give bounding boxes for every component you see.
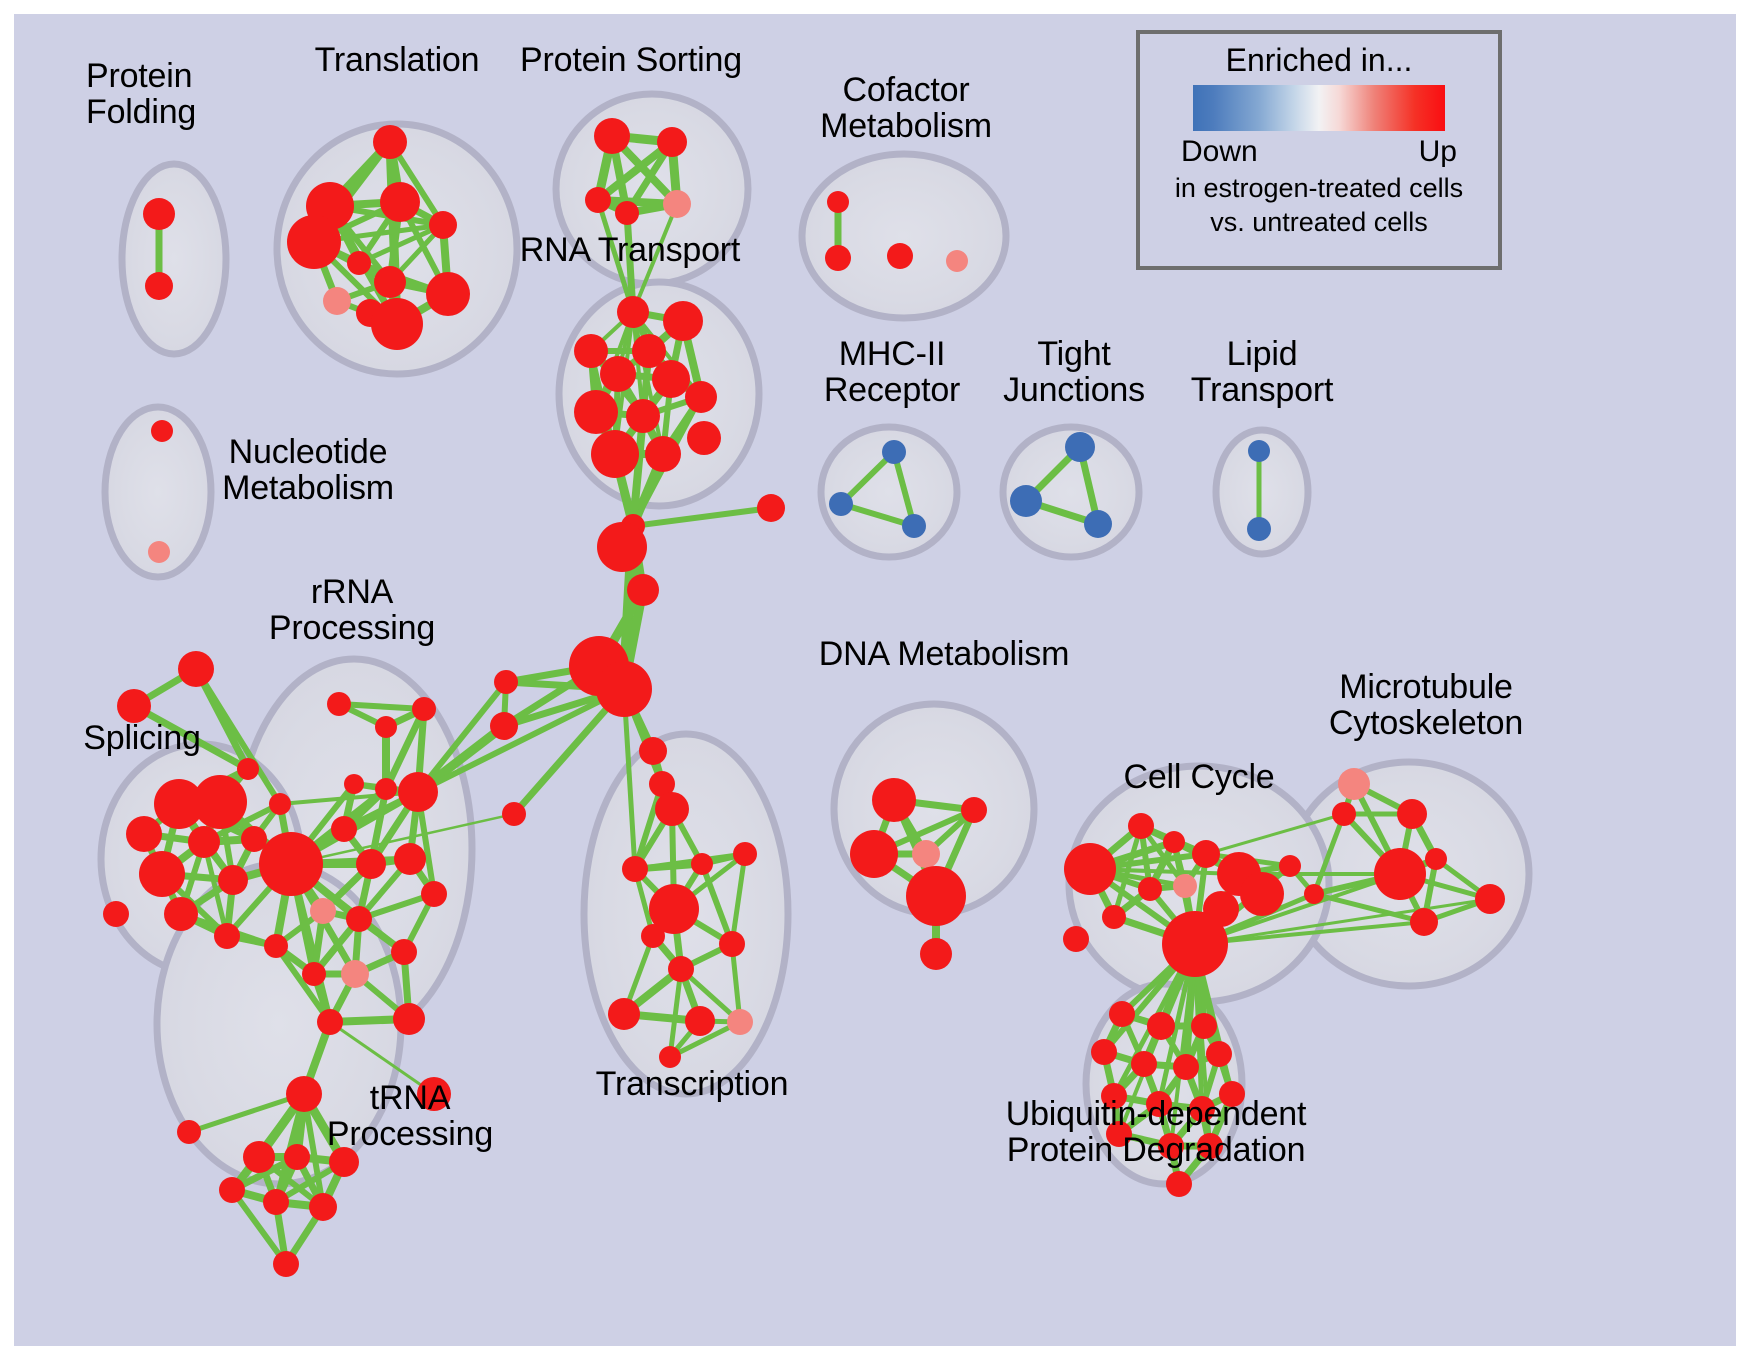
node xyxy=(391,939,417,965)
node xyxy=(331,816,357,842)
node xyxy=(617,296,649,328)
legend-caption-line-1: in estrogen-treated cells xyxy=(1175,173,1463,203)
blob-protein-folding xyxy=(122,164,226,354)
node xyxy=(1163,831,1185,853)
node xyxy=(1162,911,1228,977)
node xyxy=(1304,884,1324,904)
legend-up-label: Up xyxy=(1419,135,1457,169)
node xyxy=(1091,1039,1117,1065)
node xyxy=(626,399,660,433)
legend-gradient-bar xyxy=(1193,85,1445,131)
node xyxy=(1279,855,1301,877)
node xyxy=(259,832,323,896)
node xyxy=(148,541,170,563)
node xyxy=(310,898,336,924)
node xyxy=(371,298,423,350)
node xyxy=(1010,485,1042,517)
node xyxy=(103,901,129,927)
node xyxy=(356,849,386,879)
node xyxy=(946,250,968,272)
legend-caption-line-2: vs. untreated cells xyxy=(1210,207,1428,237)
node xyxy=(591,430,639,478)
node xyxy=(719,931,745,957)
node xyxy=(657,127,687,157)
node xyxy=(597,522,647,572)
node xyxy=(850,830,898,878)
node xyxy=(1131,1051,1157,1077)
node xyxy=(398,772,438,812)
node xyxy=(490,712,518,740)
node xyxy=(346,906,372,932)
node xyxy=(1338,768,1370,800)
node xyxy=(269,793,291,815)
cluster-label-splicing: Splicing xyxy=(62,720,222,756)
node xyxy=(1138,877,1162,901)
node xyxy=(912,840,940,868)
node xyxy=(243,1141,275,1173)
node xyxy=(178,651,214,687)
node xyxy=(1173,1054,1199,1080)
node xyxy=(829,492,853,516)
network-plot-area: Protein Folding Translation Protein Sort… xyxy=(14,14,1736,1346)
node xyxy=(341,960,369,988)
node xyxy=(1425,848,1447,870)
node xyxy=(641,924,665,948)
node xyxy=(273,1251,299,1277)
node xyxy=(1147,1012,1175,1040)
node xyxy=(632,334,666,368)
node xyxy=(685,381,717,413)
node xyxy=(1410,908,1438,936)
node xyxy=(733,842,757,866)
node xyxy=(691,853,713,875)
node xyxy=(218,865,248,895)
node xyxy=(263,1189,289,1215)
node xyxy=(685,1006,715,1036)
node xyxy=(1248,440,1270,462)
cluster-label-protein-sorting: Protein Sorting xyxy=(506,42,756,78)
node xyxy=(663,190,691,218)
cluster-label-trna-processing: tRNA Processing xyxy=(310,1080,510,1152)
node xyxy=(1374,848,1426,900)
node xyxy=(284,1144,310,1170)
node xyxy=(585,187,611,213)
node xyxy=(757,494,785,522)
node xyxy=(193,775,247,829)
cluster-label-cell-cycle: Cell Cycle xyxy=(1104,759,1294,795)
node xyxy=(327,692,351,716)
cluster-label-tight-junctions: Tight Junctions xyxy=(994,336,1154,408)
node xyxy=(727,1009,753,1035)
cluster-label-microtubule: Microtubule Cytoskeleton xyxy=(1306,669,1546,741)
node xyxy=(426,272,470,316)
node xyxy=(375,778,397,800)
node xyxy=(1166,1171,1192,1197)
node xyxy=(1065,432,1095,462)
cluster-label-transcription: Transcription xyxy=(572,1066,812,1102)
node xyxy=(1064,843,1116,895)
node xyxy=(1173,874,1197,898)
legend-endpoints: Down Up xyxy=(1181,135,1457,169)
legend-title: Enriched in... xyxy=(1226,42,1413,79)
node xyxy=(214,923,240,949)
cluster-label-mhc-ii-receptor: MHC-II Receptor xyxy=(802,336,982,408)
edge xyxy=(633,508,771,526)
node xyxy=(574,334,608,368)
node xyxy=(1397,799,1427,829)
node xyxy=(1109,1001,1135,1027)
node xyxy=(655,792,689,826)
node xyxy=(687,421,721,455)
node xyxy=(309,1193,337,1221)
node xyxy=(177,1120,201,1144)
node xyxy=(600,356,636,392)
node xyxy=(323,287,351,315)
node xyxy=(1206,1041,1232,1067)
node xyxy=(594,118,630,154)
node xyxy=(412,697,436,721)
node xyxy=(1191,1013,1217,1039)
node xyxy=(344,774,364,794)
node xyxy=(652,360,690,398)
node xyxy=(645,436,681,472)
node xyxy=(374,266,406,298)
cluster-label-ubiquitin: Ubiquitin-dependent Protein Degradation xyxy=(976,1096,1336,1168)
cluster-label-translation: Translation xyxy=(282,42,512,78)
node xyxy=(126,816,162,852)
node xyxy=(188,826,220,858)
node xyxy=(1247,517,1271,541)
node xyxy=(668,956,694,982)
node xyxy=(1332,802,1356,826)
node xyxy=(139,851,185,897)
node xyxy=(1475,884,1505,914)
node xyxy=(375,716,397,738)
node xyxy=(241,826,267,852)
node xyxy=(596,661,652,717)
node xyxy=(663,301,703,341)
node xyxy=(117,689,151,723)
node xyxy=(906,866,966,926)
node xyxy=(1102,905,1126,929)
node xyxy=(502,802,526,826)
figure-canvas: Protein Folding Translation Protein Sort… xyxy=(0,0,1750,1360)
cluster-label-nucleotide-metabolism: Nucleotide Metabolism xyxy=(202,434,414,506)
node xyxy=(394,843,426,875)
node xyxy=(429,211,457,239)
node xyxy=(1240,872,1284,916)
node xyxy=(219,1177,245,1203)
node xyxy=(615,201,639,225)
node xyxy=(1063,926,1089,952)
blob-cofactor-metabolism xyxy=(802,154,1006,318)
legend-down-label: Down xyxy=(1181,135,1258,169)
node xyxy=(494,670,518,694)
node xyxy=(961,797,987,823)
node xyxy=(882,440,906,464)
node xyxy=(317,1009,343,1035)
node xyxy=(421,881,447,907)
node xyxy=(1192,840,1220,868)
node xyxy=(264,934,288,958)
cluster-label-cofactor-metabolism: Cofactor Metabolism xyxy=(786,72,1026,144)
node xyxy=(151,420,173,442)
node xyxy=(347,251,371,275)
node xyxy=(887,243,913,269)
node xyxy=(639,737,667,765)
cluster-label-lipid-transport: Lipid Transport xyxy=(1182,336,1342,408)
color-legend: Enriched in... Down Up in estrogen-treat… xyxy=(1136,30,1502,270)
node xyxy=(825,245,851,271)
node xyxy=(920,938,952,970)
node xyxy=(627,574,659,606)
node xyxy=(872,778,916,822)
node xyxy=(164,897,198,931)
node xyxy=(380,182,420,222)
node xyxy=(1128,813,1154,839)
cluster-label-rrna-processing: rRNA Processing xyxy=(262,574,442,646)
cluster-label-dna-metabolism: DNA Metabolism xyxy=(804,636,1084,672)
node xyxy=(827,191,849,213)
node xyxy=(574,390,618,434)
node xyxy=(608,998,640,1030)
cluster-label-protein-folding: Protein Folding xyxy=(86,58,266,130)
node xyxy=(237,758,259,780)
node xyxy=(1084,510,1112,538)
node xyxy=(373,125,407,159)
node xyxy=(302,962,326,986)
node xyxy=(145,272,173,300)
node xyxy=(287,215,341,269)
node xyxy=(143,198,175,230)
node xyxy=(393,1003,425,1035)
node xyxy=(622,856,648,882)
cluster-label-rna-transport: RNA Transport xyxy=(510,232,750,268)
node xyxy=(902,514,926,538)
